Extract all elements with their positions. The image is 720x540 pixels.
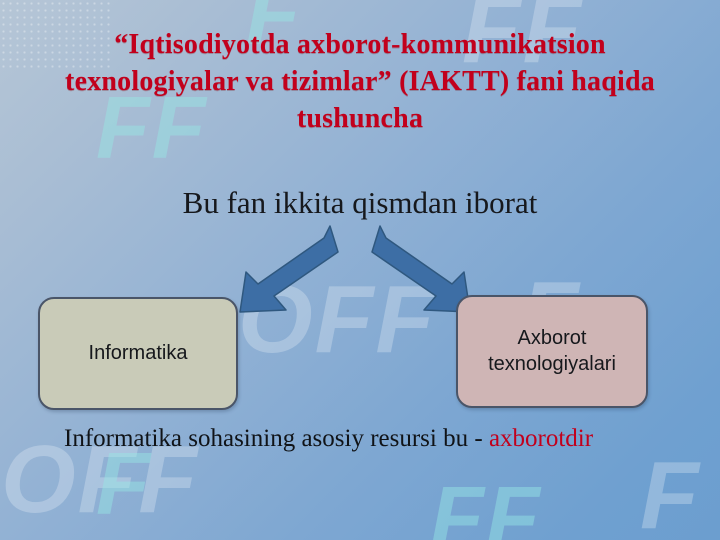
diagram-box-axborot-texnologiyalari-label: Axborot texnologiyalari (466, 326, 638, 377)
slide-title: “Iqtisodiyotda axborot-kommunikatsion te… (24, 26, 696, 138)
bottom-paragraph-accent: axborotdir (489, 425, 593, 452)
diagram-box-informatika[interactable]: Informatika (38, 297, 238, 410)
slide-canvas: FF OFF OFF F F FF FF F F “Iqtisodiyotda … (0, 0, 720, 540)
bottom-paragraph-lead: Informatika sohasining asosiy resursi bu… (64, 425, 489, 452)
diagram-box-informatika-label: Informatika (89, 341, 188, 367)
watermark-mark-c2: F (640, 448, 701, 540)
down-left-arrow-icon (228, 222, 338, 314)
watermark-cyan-b: FF (430, 474, 542, 540)
diagram-box-axborot-texnologiyalari[interactable]: Axborot texnologiyalari (456, 295, 648, 408)
bottom-paragraph: Informatika sohasining asosiy resursi bu… (18, 420, 702, 459)
slide-subtitle: Bu fan ikkita qismdan iborat (40, 186, 680, 220)
